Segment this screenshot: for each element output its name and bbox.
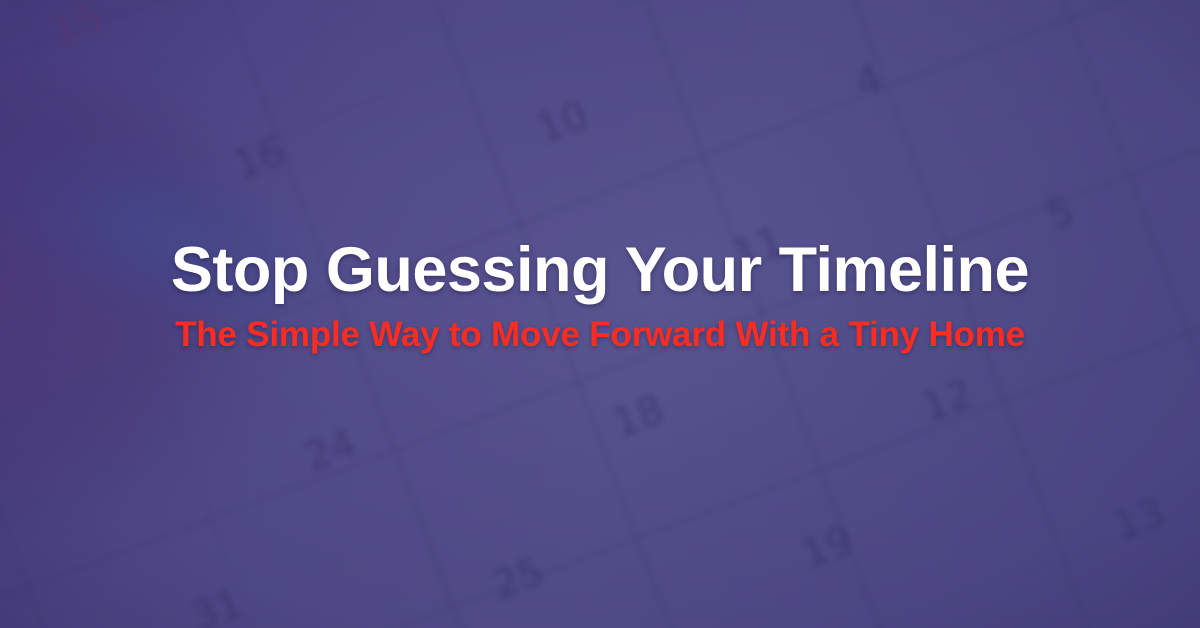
promo-banner: THU 151624312510111819451213 Stop Guessi… [0, 0, 1200, 628]
page-title: Stop Guessing Your Timeline [0, 238, 1200, 304]
page-subtitle: The Simple Way to Move Forward With a Ti… [0, 316, 1200, 355]
headline-block: Stop Guessing Your Timeline The Simple W… [0, 238, 1200, 354]
